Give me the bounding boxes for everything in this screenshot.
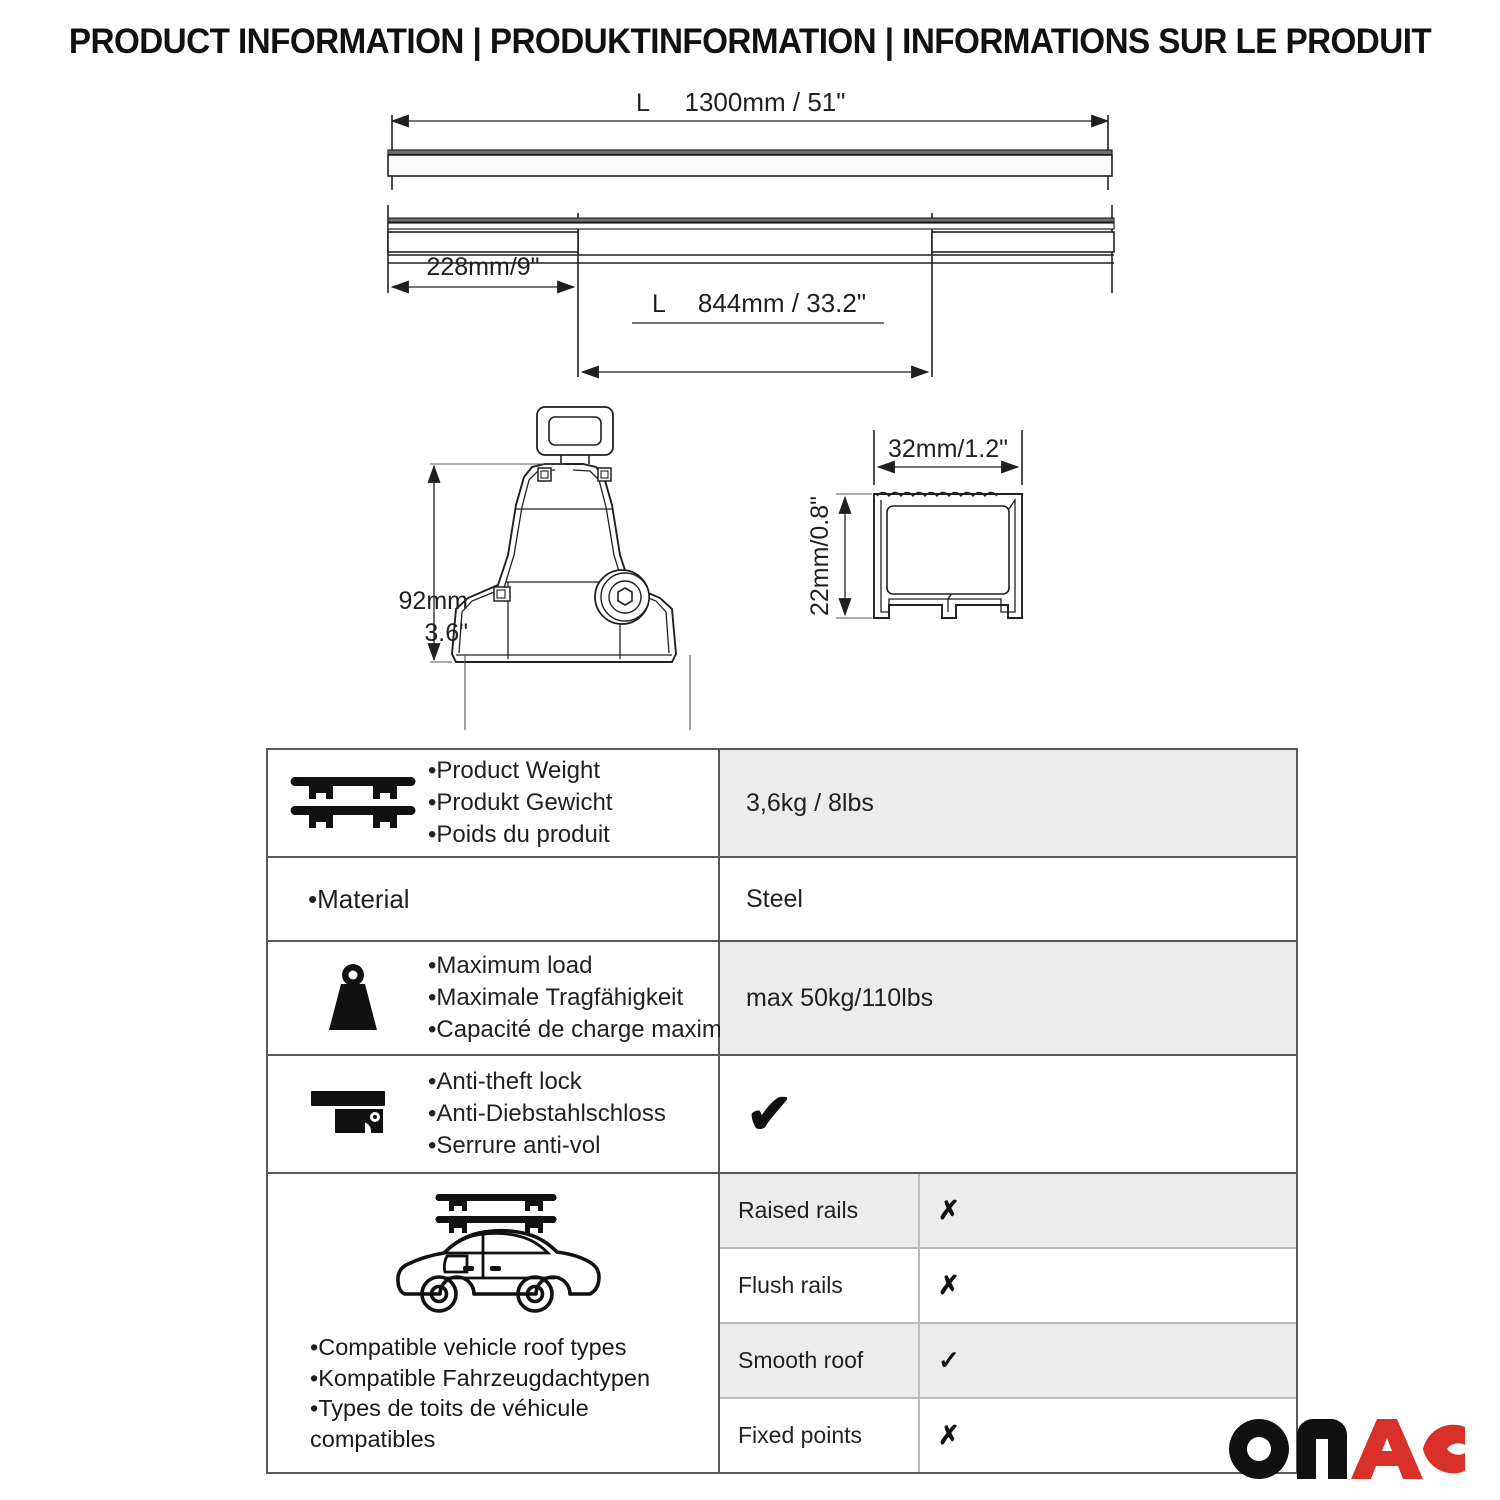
roof-compat-label-de: •Kompatible Fahrzeugdachtypen [310,1363,712,1394]
overall-length-text: 1300mm / 51" [685,87,846,117]
table-row-max-load: •Maximum load •Maximale Tragfähigkeit •C… [268,942,1296,1056]
specification-table: •Product Weight •Produkt Gewicht •Poids … [266,748,1298,1474]
roof-type-label: Raised rails [720,1174,920,1247]
weight-label-fr: •Poids du produit [428,819,612,851]
roof-compat-label-fr: •Types de toits de véhicule compatibles [310,1393,712,1454]
roof-types-subtable: Raised rails ✗ Flush rails ✗ Smooth roof… [720,1174,1296,1472]
table-row-anti-theft: •Anti-theft lock •Anti-Diebstahlschloss … [268,1056,1296,1174]
material-labels: •Material [308,882,410,917]
weight-value: 3,6kg / 8lbs [720,750,1296,856]
roof-type-row-smooth-roof: Smooth roof ✓ [720,1324,1296,1399]
anti-theft-label-fr: •Serrure anti-vol [428,1130,666,1162]
roof-type-support-icon: ✗ [920,1174,1296,1247]
anti-theft-label-de: •Anti-Diebstahlschloss [428,1098,666,1130]
crossbars-icon [278,772,428,834]
span-length-text: 844mm / 33.2" [698,288,866,318]
max-load-label-cell: •Maximum load •Maximale Tragfähigkeit •C… [268,942,720,1054]
lock-icon [278,1085,428,1143]
roof-type-row-flush-rails: Flush rails ✗ [720,1249,1296,1324]
max-load-label-en: •Maximum load [428,950,754,982]
roof-type-label: Fixed points [720,1399,920,1472]
page-title: PRODUCT INFORMATION | PRODUKTINFORMATION… [38,22,1463,62]
profile-height-text: 22mm/0.8" [806,496,834,616]
table-row-weight: •Product Weight •Produkt Gewicht •Poids … [268,750,1296,858]
max-load-label-fr: •Capacité de charge maximale [428,1014,754,1046]
roof-type-support-icon: ✗ [920,1249,1296,1322]
roof-compat-labels: •Compatible vehicle roof types •Kompatib… [278,1332,712,1454]
foot-height-mm-text: 92mm [399,587,468,615]
roof-compat-label-cell: •Compatible vehicle roof types •Kompatib… [268,1174,720,1472]
roof-type-support-icon: ✓ [920,1324,1296,1397]
max-load-label-de: •Maximale Tragfähigkeit [428,982,754,1014]
profile-width-text: 32mm/1.2" [888,435,1008,463]
material-label-cell: •Material [268,858,720,940]
anti-theft-value: ✔ [720,1056,1296,1172]
foot-height-in-text: 3.6" [424,619,468,647]
roof-type-label: Smooth roof [720,1324,920,1397]
anti-theft-label-cell: •Anti-theft lock •Anti-Diebstahlschloss … [268,1056,720,1172]
car-with-rack-icon [278,1186,712,1324]
length-l-marker: L [636,89,650,117]
omac-logo [1227,1417,1467,1481]
product-information-sheet: PRODUCT INFORMATION | PRODUKTINFORMATION… [0,0,1500,1500]
table-row-material: •Material Steel [268,858,1296,942]
weight-icon [278,962,428,1034]
roof-type-row-raised-rails: Raised rails ✗ [720,1174,1296,1249]
table-row-roof-compatibility: •Compatible vehicle roof types •Kompatib… [268,1174,1296,1472]
anti-theft-labels: •Anti-theft lock •Anti-Diebstahlschloss … [428,1066,666,1162]
max-load-labels: •Maximum load •Maximale Tragfähigkeit •C… [428,950,754,1046]
material-label-en: •Material [308,882,410,917]
material-value: Steel [720,858,1296,940]
check-icon: ✔ [746,1086,793,1142]
anti-theft-label-en: •Anti-theft lock [428,1066,666,1098]
weight-label-de: •Produkt Gewicht [428,787,612,819]
weight-label-cell: •Product Weight •Produkt Gewicht •Poids … [268,750,720,856]
weight-labels: •Product Weight •Produkt Gewicht •Poids … [428,755,612,851]
foot-offset-text: 228mm/9" [426,253,539,281]
span-l-marker: L [652,290,666,318]
roof-type-label: Flush rails [720,1249,920,1322]
weight-label-en: •Product Weight [428,755,612,787]
technical-drawing: L 1300mm / 51" 228mm/9" L 844mm / 33.2" … [0,85,1500,730]
roof-type-row-fixed-points: Fixed points ✗ [720,1399,1296,1472]
max-load-value: max 50kg/110lbs [720,942,1296,1054]
roof-compat-label-en: •Compatible vehicle roof types [310,1332,712,1363]
